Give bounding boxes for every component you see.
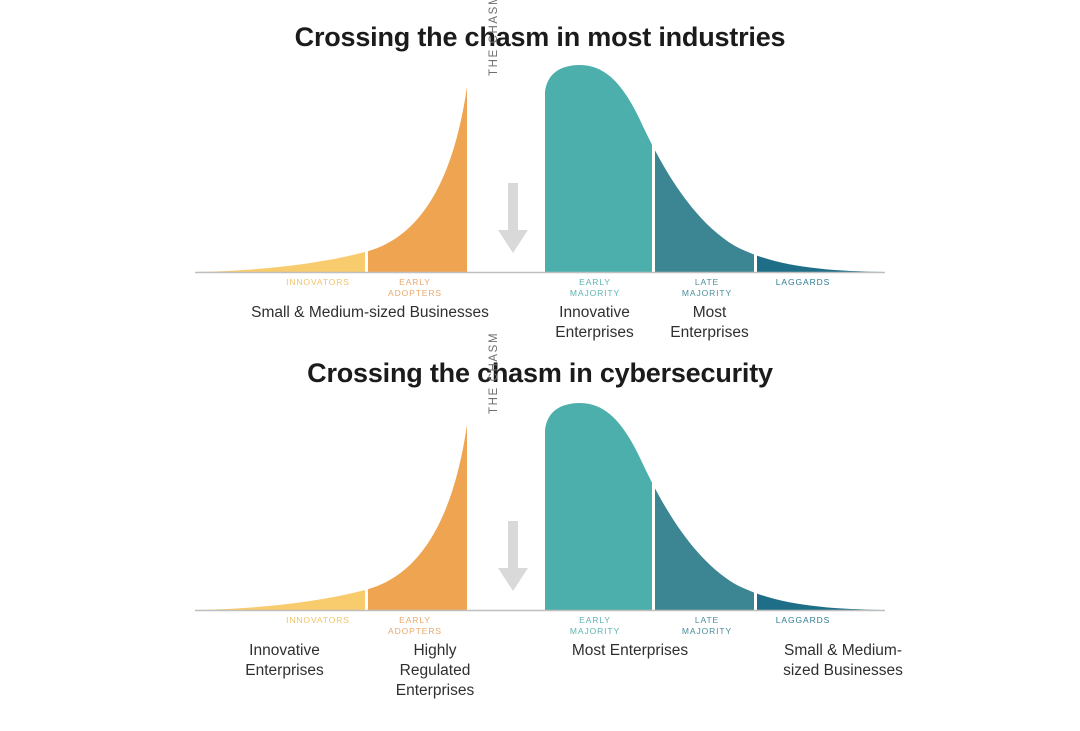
segment-label-innovators: INNOVATORS [268, 615, 368, 626]
adoption-curve-svg [195, 62, 885, 277]
description-label: Innovative Enterprises [207, 641, 362, 681]
segment-label-row: INNOVATORS EARLY ADOPTERS EARLY MAJORITY… [195, 277, 885, 303]
curve-segment-early-adopters [195, 425, 467, 610]
description-label: Most Enterprises [535, 641, 725, 661]
segment-label-laggards: LAGGARDS [753, 277, 853, 288]
segment-label-row: INNOVATORS EARLY ADOPTERS EARLY MAJORITY… [195, 615, 885, 641]
segment-label-innovators: INNOVATORS [268, 277, 368, 288]
segment-label-early-majority: EARLY MAJORITY [545, 277, 645, 298]
chart-crossing-chasm-industries: Crossing the chasm in most industries [0, 0, 1080, 352]
chasm-label: THE CHASM [488, 0, 500, 76]
adoption-curve: THE CHASM [195, 62, 885, 277]
segment-label-laggards: LAGGARDS [753, 615, 853, 626]
chasm-down-arrow-icon [497, 183, 529, 257]
segment-label-early-majority: EARLY MAJORITY [545, 615, 645, 636]
description-label: Small & Medium-sized Businesses [205, 303, 535, 323]
chart-crossing-chasm-cybersecurity: Crossing the chasm in cybersecurity [0, 333, 1080, 719]
chart-title: Crossing the chasm in most industries [0, 0, 1080, 51]
chasm-label: THE CHASM [488, 294, 500, 414]
chasm-down-arrow-icon [497, 521, 529, 595]
description-label: Small & Medium- sized Businesses [763, 641, 923, 681]
segment-label-late-majority: LATE MAJORITY [657, 615, 757, 636]
description-label-row: Innovative Enterprises Highly Regulated … [195, 641, 885, 731]
curve-segment-early-adopters [195, 87, 467, 272]
adoption-curve-svg [195, 400, 885, 615]
segment-label-early-adopters: EARLY ADOPTERS [365, 277, 465, 298]
segment-label-late-majority: LATE MAJORITY [657, 277, 757, 298]
chart-title: Crossing the chasm in cybersecurity [0, 333, 1080, 387]
adoption-curve: THE CHASM [195, 400, 885, 615]
segment-label-early-adopters: EARLY ADOPTERS [365, 615, 465, 636]
chasm-diagram-page: Crossing the chasm in most industries [0, 0, 1080, 719]
description-label: Highly Regulated Enterprises [360, 641, 510, 701]
